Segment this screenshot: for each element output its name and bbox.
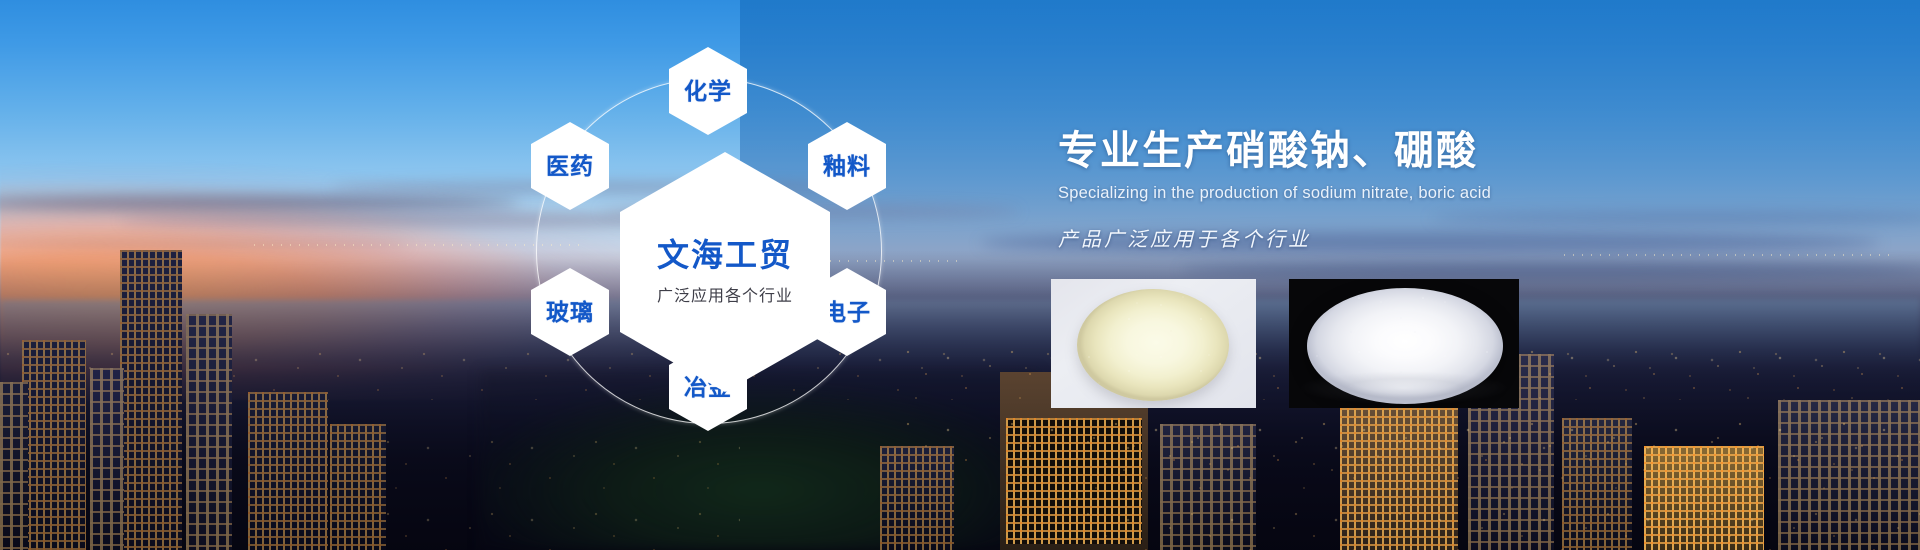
- powder-grain-texture: [1077, 289, 1229, 401]
- hexagon-label: 玻璃: [546, 301, 594, 324]
- headline-block: 专业生产硝酸钠、硼酸 Specializing in the productio…: [1058, 128, 1618, 252]
- company-tagline: 广泛应用各个行业: [657, 282, 793, 306]
- hexagon-label: 釉料: [823, 155, 871, 178]
- hexagon-label: 医药: [546, 155, 594, 178]
- company-name: 文海工贸: [657, 238, 793, 273]
- building: [120, 250, 182, 550]
- headline-tagline: 产品广泛应用于各个行业: [1058, 223, 1618, 252]
- headline-primary: 专业生产硝酸钠、硼酸: [1058, 128, 1618, 174]
- powder-base-glow: [1299, 371, 1509, 405]
- promo-banner: 化学 釉料 电子 冶金 玻璃 医药 文海工贸 广泛应用各个行业 专业生产硝酸钠、…: [0, 0, 1920, 550]
- building: [22, 340, 86, 550]
- city-lights-cluster: [1080, 430, 1920, 550]
- building: [186, 314, 232, 550]
- product-photo-boric-acid: [1289, 279, 1519, 408]
- bridge-lights: [1560, 254, 1890, 256]
- bridge-lights: [250, 244, 580, 246]
- hexagon-label: 电子: [823, 301, 871, 324]
- building: [90, 368, 124, 550]
- city-lights-cluster: [380, 430, 740, 550]
- product-photo-sodium-nitrate: [1051, 279, 1256, 408]
- building: [248, 392, 328, 550]
- hexagon-label: 化学: [684, 80, 732, 103]
- powder-heap: [1077, 289, 1229, 401]
- headline-english: Specializing in the production of sodium…: [1058, 184, 1618, 203]
- building: [0, 382, 28, 550]
- city-skyline: [0, 220, 1920, 550]
- building: [330, 424, 386, 550]
